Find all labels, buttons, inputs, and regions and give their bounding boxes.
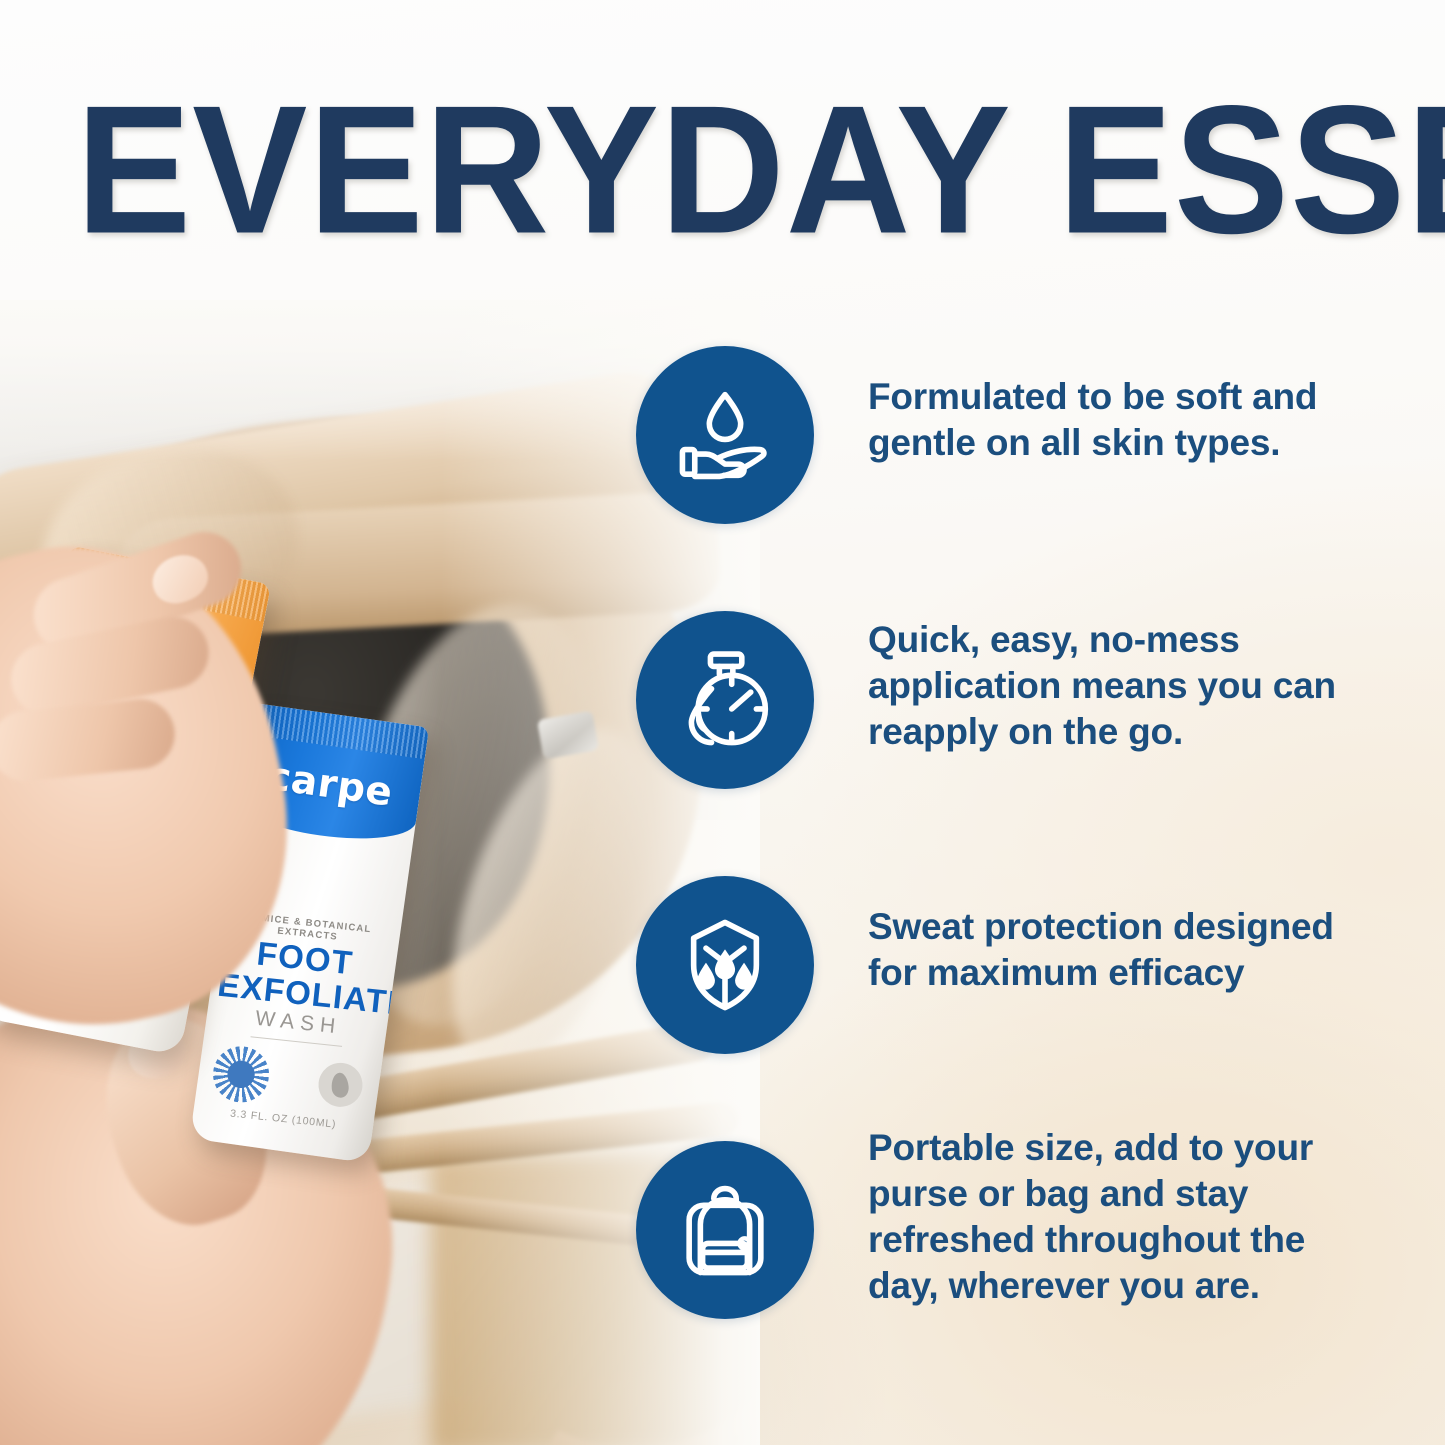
backpack-icon (669, 1174, 781, 1286)
feature-text: Sweat protection designed for maximum ef… (868, 904, 1368, 996)
feature-icon-badge (636, 611, 814, 789)
hand-with-droplet-icon (669, 379, 781, 491)
page-title: EVERYDAY ESSENTIALS (76, 84, 1428, 258)
feature-text: Portable size, add to your purse or bag … (868, 1125, 1368, 1309)
feature-item: Quick, easy, no-mess application means y… (636, 611, 1396, 876)
feature-text: Quick, easy, no-mess application means y… (868, 617, 1368, 755)
feature-item: Sweat protection designed for maximum ef… (636, 876, 1396, 1141)
qr-code-icon (210, 1044, 272, 1106)
product-infographic: carpe PUMICE & BOTANICAL EXTRACTS FOOT E… (0, 0, 1445, 1445)
feature-icon-badge (636, 876, 814, 1054)
divider (251, 1036, 343, 1047)
feature-text: Formulated to be soft and gentle on all … (868, 374, 1368, 466)
foot-icon (316, 1061, 364, 1109)
shield-droplets-icon (669, 909, 781, 1021)
feature-icon-badge (636, 1141, 814, 1319)
blue-tube-badges (210, 1044, 365, 1115)
feature-icon-badge (636, 346, 814, 524)
stopwatch-droplet-icon (669, 644, 781, 756)
feature-list: Formulated to be soft and gentle on all … (636, 346, 1396, 1406)
feature-item: Formulated to be soft and gentle on all … (636, 346, 1396, 611)
feature-item: Portable size, add to your purse or bag … (636, 1141, 1396, 1406)
